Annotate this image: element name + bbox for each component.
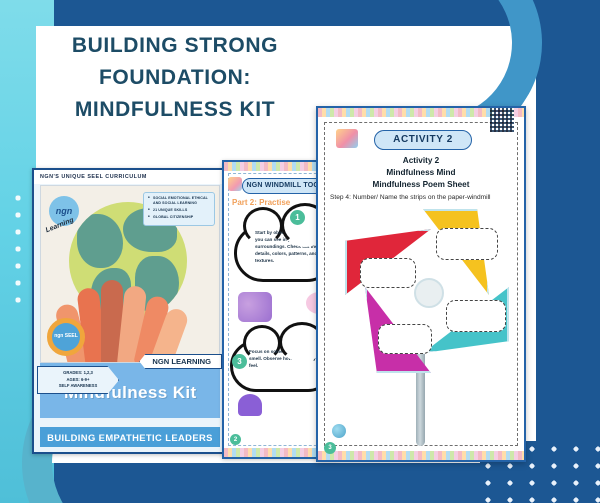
cover-bullet: GLOBAL CITIZENSHIP — [148, 215, 210, 220]
pinwheel-slot-2[interactable] — [436, 228, 498, 260]
cover-ribbon-text: NGN'S UNIQUE SEEL CURRICULUM — [40, 171, 147, 183]
focus-label: SELF AWARENESS — [42, 383, 114, 390]
seel-seal-text: ngn SEEL — [52, 323, 80, 351]
activity-heading-1: Activity 2 — [328, 156, 514, 165]
kids-border-bottom-icon — [318, 451, 524, 460]
step-3-text: Focus on something you can smell. Observ… — [249, 348, 326, 369]
headline-line-3: MINDFULNESS KIT — [60, 94, 290, 126]
cover-footer-text: BUILDING EMPATHETIC LEADERS — [47, 432, 213, 443]
grade-info-chip: GRADES: 1,2,3 AGES: 6-9+ SELF AWARENESS — [37, 366, 119, 394]
brand-tag: NGN LEARNING — [139, 354, 222, 369]
pinwheel-slot-1[interactable] — [360, 258, 416, 288]
qr-code-icon — [490, 108, 514, 132]
cover-bullet: SOCIAL EMOTIONAL ETHICAL AND SOCIAL LEAR… — [148, 196, 210, 207]
pinwheel-slot-3[interactable] — [446, 300, 506, 332]
activity-sheet-card[interactable]: ACTIVITY 2 Activity 2 Mindfulness Mind M… — [316, 106, 526, 462]
seel-seal-badge: ngn SEEL — [47, 318, 85, 356]
pinwheel-illustration — [342, 206, 512, 376]
activity-page-number: 3 — [324, 442, 336, 454]
kids-reading-icon — [228, 177, 242, 191]
activity-pill: ACTIVITY 2 — [374, 130, 472, 150]
windmill-page-number: 2 — [230, 434, 241, 445]
step-3-badge: 3 — [232, 354, 247, 369]
page-title: BUILDING STRONG FOUNDATION: MINDFULNESS … — [60, 30, 290, 126]
activity-heading-2: Mindfulness Mind — [328, 168, 514, 177]
product-cover-card[interactable]: NGN'S UNIQUE SEEL CURRICULUM ngn Learnin… — [32, 168, 228, 454]
poster-canvas: BUILDING STRONG FOUNDATION: MINDFULNESS … — [0, 0, 600, 503]
kids-reading-icon — [336, 129, 358, 148]
activity-heading-3: Mindfulness Poem Sheet — [328, 180, 514, 189]
cover-bullet: 21 UNIQUE SKILLS — [148, 208, 210, 213]
globe-watermark-icon — [332, 424, 346, 438]
cover-artwork: ngn Learning ngn SEEL SOCIAL EMOTIONAL E… — [40, 185, 220, 363]
cover-bullet-box: SOCIAL EMOTIONAL ETHICAL AND SOCIAL LEAR… — [143, 192, 215, 226]
step-1-badge: 1 — [290, 210, 305, 225]
kid-wheelchair-illustration — [238, 292, 272, 322]
cyan-dot-column — [12, 192, 24, 312]
headline-line-2: FOUNDATION: — [60, 62, 290, 94]
grades-label: GRADES: 1,2,3 — [42, 370, 114, 377]
activity-step-instruction: Step 4: Number/ Name the strips on the p… — [330, 194, 514, 201]
kid-hat-illustration — [238, 394, 262, 416]
headline-line-1: BUILDING STRONG — [60, 30, 290, 62]
ages-label: AGES: 6-9+ — [42, 377, 114, 384]
cover-footer-band: BUILDING EMPATHETIC LEADERS — [40, 427, 220, 447]
pinwheel-slot-4[interactable] — [378, 324, 432, 354]
pinwheel-hub — [414, 278, 444, 308]
